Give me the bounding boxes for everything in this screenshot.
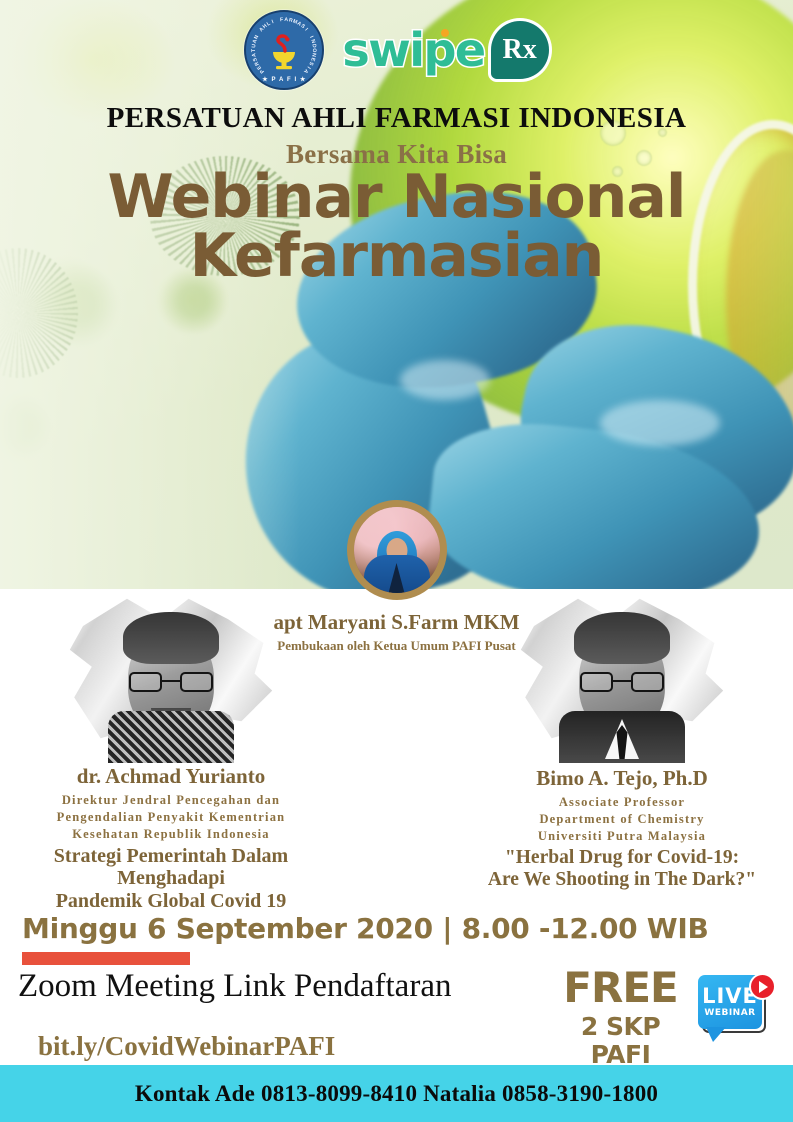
- affiliation-line-3: Kesehatan Republik Indonesia: [6, 826, 336, 843]
- speaker-right-affiliation: Associate Professor Department of Chemis…: [457, 794, 787, 845]
- pafi-logo: PERSATUAN AHLI FARMASI INDONESIA ★ P A F…: [244, 10, 324, 90]
- affiliation-line-2: Pengendalian Penyakit Kementrian: [6, 809, 336, 826]
- skp-credits: 2 SKP PAFI: [553, 1013, 688, 1068]
- rx-bubble-icon: Rx: [491, 21, 549, 79]
- portrait-head: [112, 609, 230, 759]
- main-title: Webinar Nasional Kefarmasian: [0, 168, 793, 286]
- logo-row: PERSATUAN AHLI FARMASI INDONESIA ★ P A F…: [0, 8, 793, 92]
- lens-right: [631, 672, 664, 692]
- speaker-right: Bimo A. Tejo, Ph.D Associate Professor D…: [457, 592, 787, 890]
- speaker-left-name: dr. Achmad Yurianto: [6, 764, 336, 788]
- main-title-line2: Kefarmasian: [0, 227, 793, 286]
- lens-left: [129, 672, 162, 692]
- platform-registration-label: Zoom Meeting Link Pendaftaran: [18, 968, 451, 1005]
- topic-line-1: "Herbal Drug for Covid-19:: [457, 847, 787, 869]
- contact-text: Kontak Ade 0813-8099-8410 Natalia 0858-3…: [135, 1081, 658, 1107]
- affiliation-line-2: Department of Chemistry: [457, 811, 787, 828]
- affiliation-line-3: Universiti Putra Malaysia: [457, 828, 787, 845]
- topic-line-2: Are We Shooting in The Dark?": [457, 869, 787, 891]
- swipe-i-dot: [441, 29, 449, 37]
- batik-shirt: [108, 711, 234, 763]
- registration-link[interactable]: bit.ly/CovidWebinarPAFI: [38, 1031, 335, 1062]
- speaker-left-topic: Strategi Pemerintah Dalam Menghadapi Pan…: [6, 845, 336, 912]
- affiliation-line-1: Associate Professor: [457, 794, 787, 811]
- glasses-icon: [580, 672, 664, 692]
- glove-highlight: [400, 360, 490, 400]
- play-triangle: [759, 981, 768, 993]
- topic-line-1: Strategi Pemerintah Dalam Menghadapi: [6, 845, 336, 890]
- speaker-left: dr. Achmad Yurianto Direktur Jendral Pen…: [6, 592, 336, 912]
- affiliation-line-1: Direktur Jendral Pencegahan dan: [6, 792, 336, 809]
- bowl-of-hygieia-icon: [264, 32, 304, 72]
- speaker-left-affiliation: Direktur Jendral Pencegahan dan Pengenda…: [6, 792, 336, 843]
- price-free: FREE: [553, 967, 688, 1009]
- webinar-text: WEBINAR: [704, 1009, 755, 1018]
- swiperx-logo: swipe Rx: [342, 21, 548, 79]
- price-block: FREE 2 SKP PAFI: [553, 967, 688, 1068]
- webinar-poster: PERSATUAN AHLI FARMASI INDONESIA ★ P A F…: [0, 0, 793, 1122]
- portrait-head: [563, 609, 681, 759]
- swipe-wordmark: swipe: [342, 27, 484, 73]
- glasses-bridge: [162, 680, 180, 682]
- glasses-icon: [129, 672, 213, 692]
- center-speaker-photo: [347, 500, 447, 600]
- glove-highlight: [600, 400, 720, 446]
- event-date-time: Minggu 6 September 2020 | 8.00 -12.00 WI…: [22, 912, 709, 945]
- bubble-tail: [706, 1027, 726, 1042]
- glasses-bridge: [613, 680, 631, 682]
- hair: [574, 612, 670, 664]
- pafi-bottom-text: ★ P A F I ★: [246, 76, 322, 83]
- contact-bar: Kontak Ade 0813-8099-8410 Natalia 0858-3…: [0, 1065, 793, 1122]
- organization-name: PERSATUAN AHLI FARMASI INDONESIA: [0, 102, 793, 135]
- lens-right: [180, 672, 213, 692]
- speaker-right-topic: "Herbal Drug for Covid-19: Are We Shooti…: [457, 847, 787, 891]
- speaker-right-photo: [512, 592, 732, 762]
- speaker-left-photo: [61, 592, 281, 762]
- red-underline-bar: [22, 952, 190, 965]
- topic-line-2: Pandemik Global Covid 19: [6, 890, 336, 912]
- rx-text: Rx: [503, 34, 537, 66]
- play-button-icon: [749, 973, 776, 1000]
- lens-left: [580, 672, 613, 692]
- speaker-right-name: Bimo A. Tejo, Ph.D: [457, 766, 787, 790]
- hair: [123, 612, 219, 664]
- live-webinar-badge: LIVE WEBINAR: [698, 975, 776, 1045]
